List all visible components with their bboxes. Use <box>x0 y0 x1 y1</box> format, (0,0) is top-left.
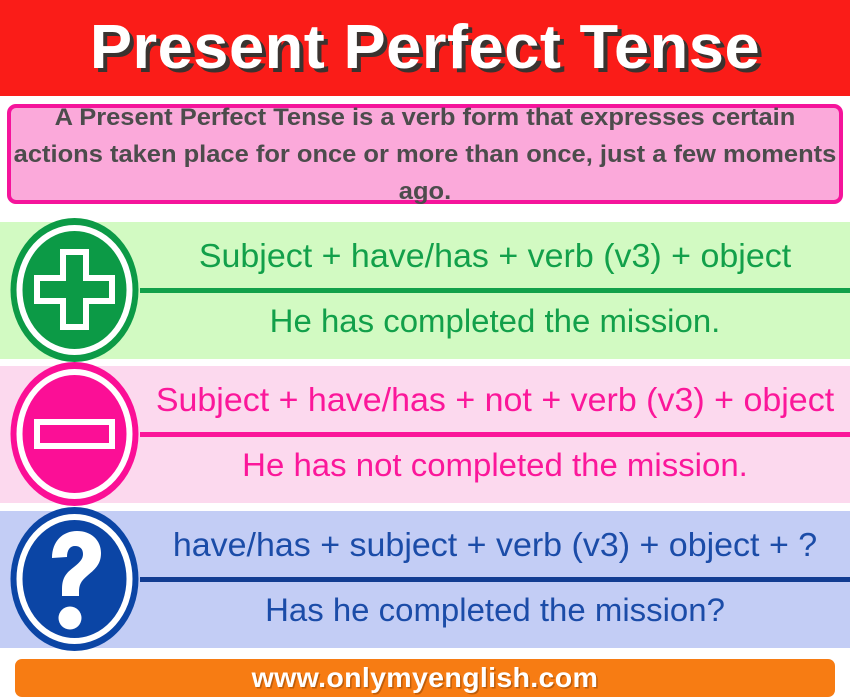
website-footer-bar[interactable]: www.onlymyenglish.com <box>15 659 835 697</box>
affirmative-example: He has completed the mission. <box>129 292 850 350</box>
title-banner: Present Perfect Tense <box>0 0 850 96</box>
minus-icon <box>8 360 141 508</box>
interrogative-example: Has he completed the mission? <box>129 581 850 639</box>
negative-row: Subject + have/has + not + verb (v3) + o… <box>0 366 850 503</box>
affirmative-row: Subject + have/has + verb (v3) + object … <box>0 222 850 359</box>
interrogative-text-column: have/has + subject + verb (v3) + object … <box>140 511 850 648</box>
affirmative-text-column: Subject + have/has + verb (v3) + object … <box>140 222 850 359</box>
interrogative-row: have/has + subject + verb (v3) + object … <box>0 511 850 648</box>
definition-box: A Present Perfect Tense is a verb form t… <box>7 104 843 204</box>
affirmative-formula: Subject + have/has + verb (v3) + object <box>129 227 850 285</box>
negative-formula: Subject + have/has + not + verb (v3) + o… <box>129 371 850 429</box>
negative-text-column: Subject + have/has + not + verb (v3) + o… <box>140 366 850 503</box>
plus-icon <box>8 216 141 364</box>
question-mark-icon <box>8 505 141 653</box>
definition-text: A Present Perfect Tense is a verb form t… <box>0 99 850 210</box>
interrogative-formula: have/has + subject + verb (v3) + object … <box>129 516 850 574</box>
page-title: Present Perfect Tense <box>0 9 850 87</box>
website-url: www.onlymyenglish.com <box>252 663 599 693</box>
negative-example: He has not completed the mission. <box>129 436 850 494</box>
